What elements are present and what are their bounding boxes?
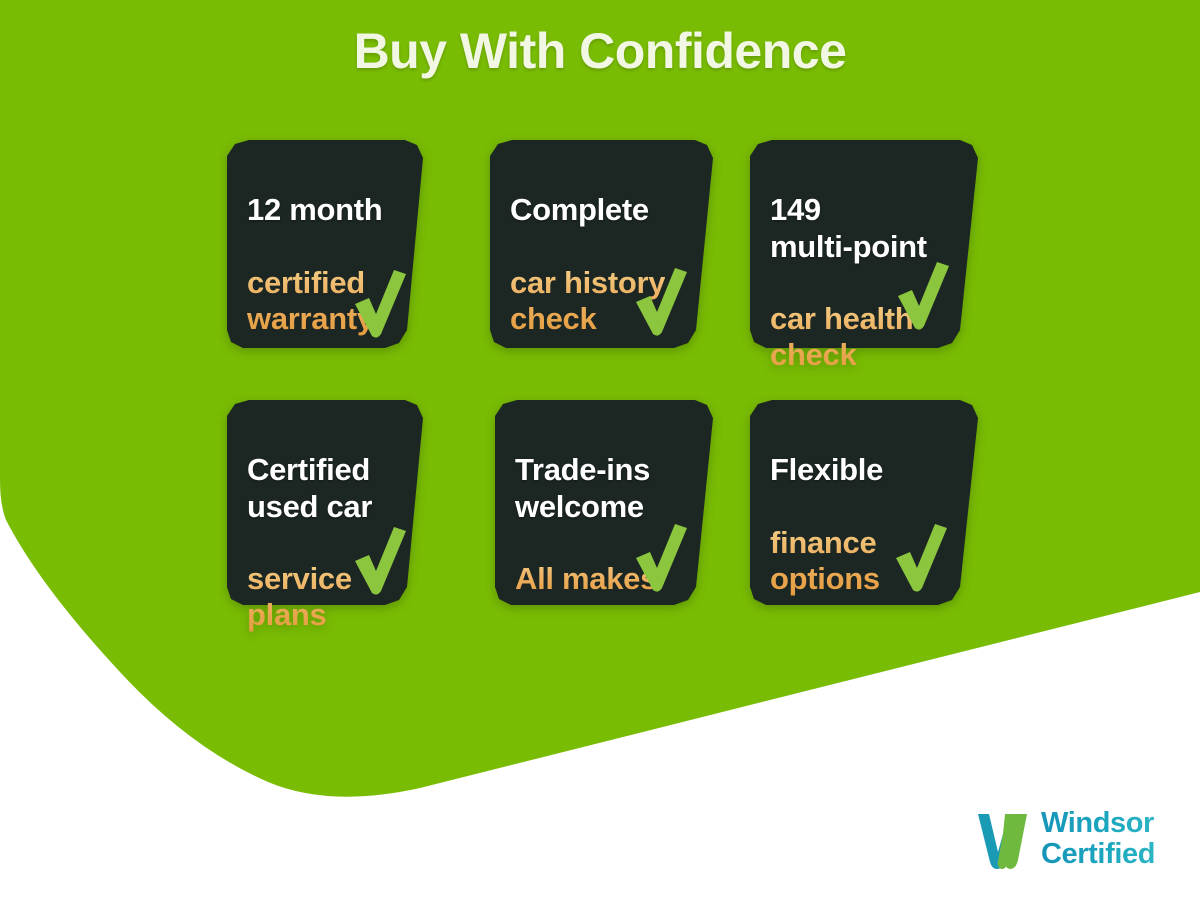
card-title-white: Trade-ins welcome bbox=[515, 452, 657, 525]
page-title: Buy With Confidence bbox=[0, 22, 1200, 80]
benefit-card-12-month-certified-warranty[interactable]: 12 month certified warranty bbox=[227, 140, 423, 348]
card-text: Flexible finance options bbox=[770, 416, 883, 634]
logo-line-certified: Certified bbox=[1041, 840, 1155, 869]
windsor-certified-logo[interactable]: Windsor Certified bbox=[975, 808, 1155, 870]
benefit-card-complete-car-history-check[interactable]: Complete car history check bbox=[490, 140, 713, 348]
checkmark-icon bbox=[892, 256, 952, 332]
checkmark-icon bbox=[890, 518, 950, 594]
card-title-accent: finance options bbox=[770, 525, 883, 598]
logo-wordmark: Windsor Certified bbox=[1041, 809, 1155, 869]
checkmark-icon bbox=[630, 262, 690, 338]
benefit-card-flexible-finance-options[interactable]: Flexible finance options bbox=[750, 400, 978, 605]
benefit-card-149-multi-point-car-health-check[interactable]: 149 multi-point car health check bbox=[750, 140, 978, 348]
card-title-white: Complete bbox=[510, 192, 665, 228]
benefit-card-trade-ins-welcome-all-makes[interactable]: Trade-ins welcome All makes bbox=[495, 400, 713, 605]
card-title-white: 12 month bbox=[247, 192, 382, 228]
logo-line-windsor: Windsor bbox=[1041, 809, 1155, 838]
benefit-card-certified-used-car-service-plans[interactable]: Certified used car service plans bbox=[227, 400, 423, 605]
card-title-white: Certified used car bbox=[247, 452, 372, 525]
card-title-white: 149 multi-point bbox=[770, 192, 927, 265]
poster-canvas: Buy With Confidence 12 month certified w… bbox=[0, 0, 1200, 900]
checkmark-icon bbox=[349, 264, 409, 340]
checkmark-icon bbox=[630, 518, 690, 594]
checkmark-icon bbox=[349, 521, 409, 597]
card-title-white: Flexible bbox=[770, 452, 883, 488]
windsor-w-icon bbox=[975, 808, 1033, 870]
